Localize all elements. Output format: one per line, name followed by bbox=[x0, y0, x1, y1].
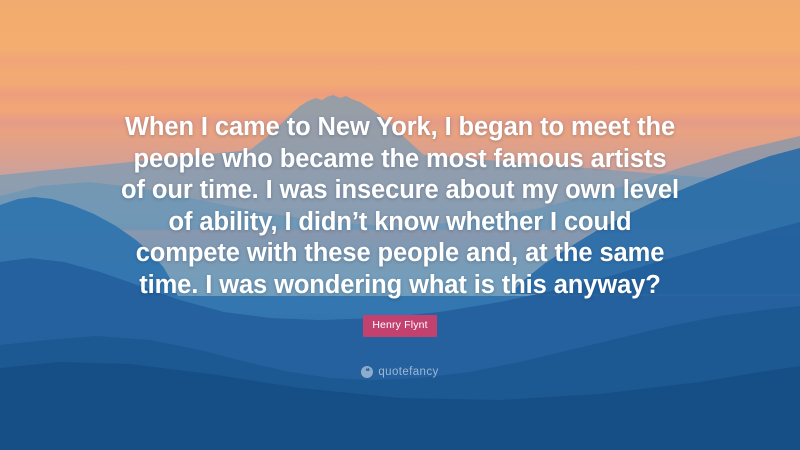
watermark-brand-label: quotefancy bbox=[378, 366, 438, 378]
quote-poster: When I came to New York, I began to meet… bbox=[0, 0, 800, 450]
quote-text: When I came to New York, I began to meet… bbox=[70, 112, 730, 301]
author-row: Henry Flynt bbox=[0, 315, 800, 337]
quote-mark-glyph: ❝ bbox=[365, 368, 369, 376]
quote-text-block: When I came to New York, I began to meet… bbox=[0, 112, 800, 301]
quote-mark-circle-icon: ❝ bbox=[361, 366, 373, 378]
author-name-badge[interactable]: Henry Flynt bbox=[363, 315, 436, 337]
watermark[interactable]: ❝ quotefancy bbox=[0, 366, 800, 378]
